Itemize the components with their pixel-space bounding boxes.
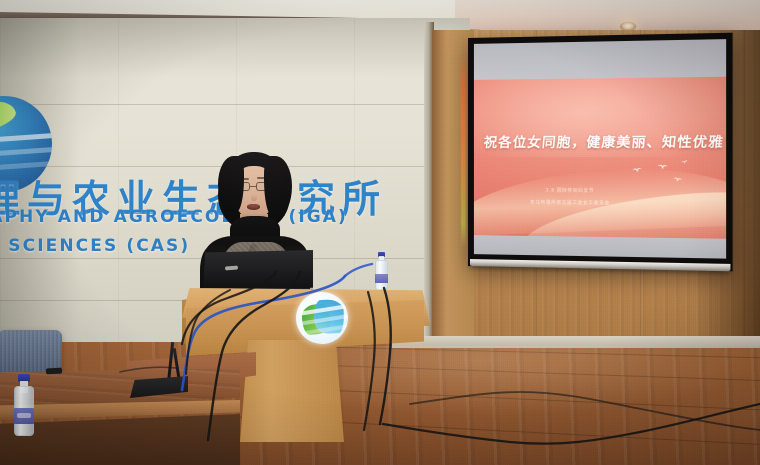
slide-title-text: 祝各位女同胞，健康美丽、知性优雅！ bbox=[483, 130, 717, 151]
screen-edge-light-spill bbox=[461, 52, 466, 248]
presenter-hair-left bbox=[218, 156, 244, 212]
bird-icon bbox=[680, 160, 689, 166]
projection-screen: 祝各位女同胞，健康美丽、知性优雅！ 3.8 国际劳动妇女节 东北地理所第五届工会… bbox=[468, 33, 733, 272]
logo-leaf-shape bbox=[0, 97, 19, 137]
bird-icon bbox=[656, 164, 668, 171]
presentation-slide: 祝各位女同胞，健康美丽、知性优雅！ 3.8 国际劳动妇女节 东北地理所第五届工会… bbox=[474, 76, 726, 238]
bird-icon bbox=[672, 177, 683, 184]
projection-screen-surface: 祝各位女同胞，健康美丽、知性优雅！ 3.8 国际劳动妇女节 东北地理所第五届工会… bbox=[474, 39, 726, 259]
conference-room-photo: 理与农业生态研究所 RAPHY AND AGROECOLOGY (IGA) OF… bbox=[0, 0, 760, 465]
small-dark-object bbox=[46, 368, 62, 375]
bottle-label bbox=[14, 408, 34, 424]
floor-highlight bbox=[300, 346, 760, 416]
presenter-nose bbox=[251, 194, 257, 201]
screen-dead-band-bottom bbox=[474, 235, 726, 258]
eyeglass-bridge bbox=[250, 186, 256, 187]
slide-birds-decoration bbox=[628, 161, 716, 203]
wall-shading-top bbox=[0, 18, 470, 78]
slide-subtitle-line1: 3.8 国际劳动妇女节 bbox=[488, 187, 653, 194]
logo-band bbox=[0, 145, 52, 159]
water-bottle-table bbox=[14, 374, 34, 436]
water-bottle-podium bbox=[375, 252, 388, 290]
bird-icon bbox=[632, 167, 644, 174]
wall-sign-english-2: OF SCIENCES (CAS) bbox=[0, 236, 190, 256]
presenter-mouth bbox=[247, 204, 260, 210]
presenter-laptop[interactable] bbox=[203, 250, 313, 292]
presenter-hair-right bbox=[264, 156, 292, 216]
screen-dead-band-top bbox=[474, 39, 726, 80]
logo-band bbox=[0, 131, 52, 145]
bottle-label bbox=[375, 274, 388, 283]
